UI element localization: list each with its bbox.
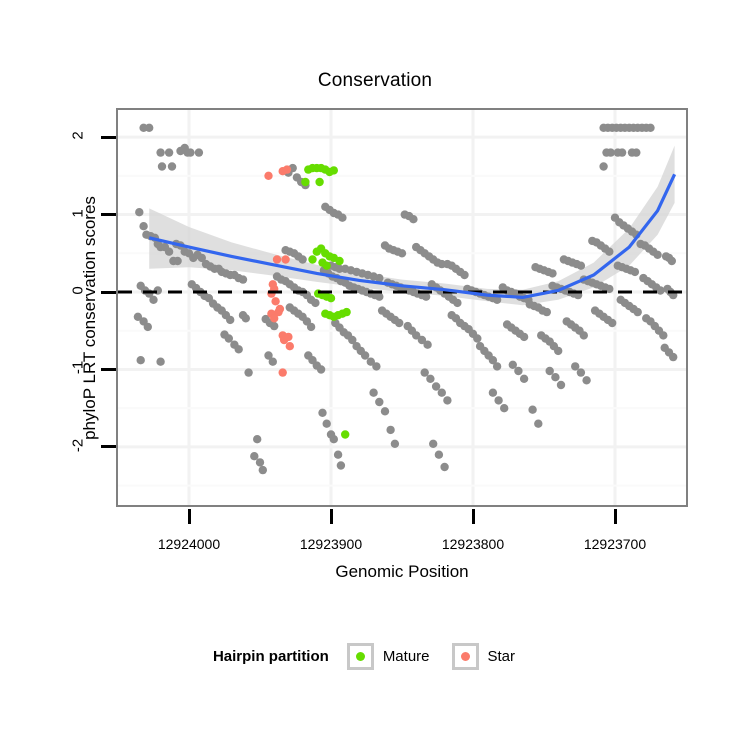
y-tick-mark: [101, 136, 116, 139]
x-axis-title: Genomic Position: [116, 562, 688, 582]
y-tick-label: -2: [70, 425, 87, 465]
legend-key-star[interactable]: [452, 643, 479, 670]
chart-figure: Conservation phyloP LRT conservation sco…: [0, 0, 750, 750]
legend-dot-mature: [356, 652, 365, 661]
y-tick-mark: [101, 445, 116, 448]
y-tick-mark: [101, 368, 116, 371]
y-tick-label: 2: [70, 116, 87, 156]
x-tick-label: 12923900: [266, 536, 396, 552]
x-tick-label: 12923700: [550, 536, 680, 552]
y-tick-mark: [101, 213, 116, 216]
legend: Hairpin partition Mature Star: [0, 643, 750, 670]
x-tick-mark: [614, 509, 617, 524]
y-tick-label: 1: [70, 193, 87, 233]
scatter-plot-canvas: [118, 110, 686, 505]
x-tick-mark: [472, 509, 475, 524]
x-tick-mark: [188, 509, 191, 524]
y-tick-label: -1: [70, 348, 87, 388]
y-tick-mark: [101, 291, 116, 294]
legend-title: Hairpin partition: [213, 648, 329, 665]
legend-label-star: Star: [488, 648, 516, 665]
x-tick-label: 12924000: [124, 536, 254, 552]
y-tick-label: 0: [70, 271, 87, 311]
legend-dot-star: [461, 652, 470, 661]
x-tick-label: 12923800: [408, 536, 538, 552]
legend-label-mature: Mature: [383, 648, 430, 665]
plot-panel[interactable]: [116, 108, 688, 507]
x-tick-mark: [330, 509, 333, 524]
chart-title: Conservation: [0, 70, 750, 92]
legend-key-mature[interactable]: [347, 643, 374, 670]
